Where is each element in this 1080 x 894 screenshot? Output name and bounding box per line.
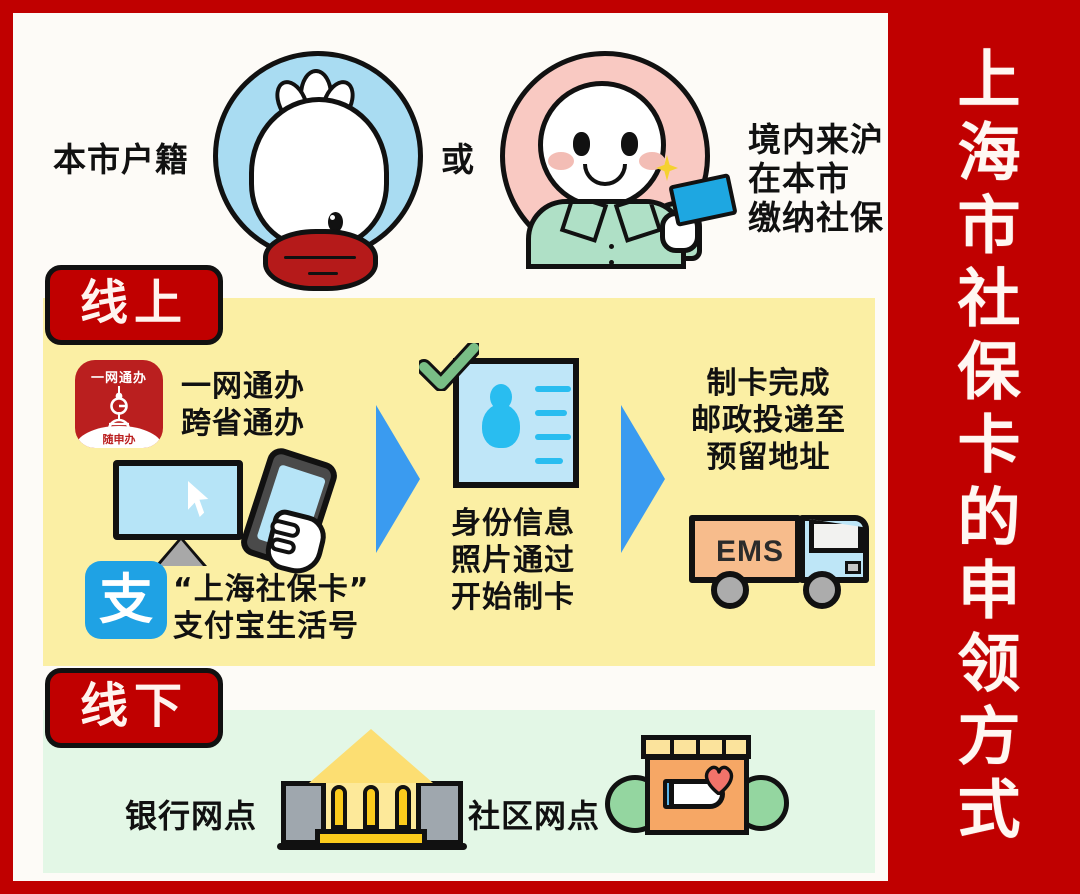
collar-left (560, 199, 609, 243)
monitor-icon (113, 460, 243, 540)
offline-site-2-label: 社区网点 (468, 791, 600, 837)
alipay-app-icon[interactable]: 支 (85, 561, 167, 639)
red-scarf (263, 229, 378, 291)
ems-delivery-truck: EMS (689, 505, 869, 609)
offline-site-1-label: 银行网点 (125, 791, 257, 837)
mascot-face (249, 97, 389, 249)
mouth-smile (583, 164, 627, 186)
bank-roof (309, 729, 433, 783)
eye-right (621, 132, 638, 156)
yiwangtongban-app-icon[interactable]: 一网通办 随申办 (75, 360, 163, 448)
oriental-pearl-tower-icon (102, 386, 136, 430)
xiaolongbao-mascot (213, 51, 423, 263)
mascot-face (538, 81, 666, 209)
app-icon-top-text: 一网通办 (75, 367, 163, 386)
cheek-blush-left (548, 152, 574, 170)
heart-icon (703, 765, 735, 795)
bank-building-icon (281, 725, 461, 849)
eye-left (573, 132, 590, 156)
truck-wheel-front (803, 571, 841, 609)
verification-step-label: 身份信息 照片通过 开始制卡 (451, 505, 575, 617)
poster-root: 本市户籍 (0, 0, 1080, 894)
online-channel-2-label: “上海社保卡” 支付宝生活号 (173, 571, 369, 645)
poster-canvas: 本市户籍 (13, 13, 888, 881)
collar-right (614, 199, 663, 243)
ems-label: EMS (703, 535, 797, 569)
offline-section-badge: 线下 (45, 668, 223, 748)
eligibility-connector-label: 或 (441, 141, 475, 180)
truck-light (845, 561, 861, 574)
id-photo-body (482, 404, 520, 448)
truck-wheel-rear (711, 571, 749, 609)
online-channel-1-label: 一网通办 跨省通办 (181, 368, 305, 442)
bank-ground-line (277, 843, 467, 850)
app-icon-bottom-text: 随申办 (75, 431, 163, 447)
id-photo-icon (479, 384, 523, 446)
worker-mascot-with-card (500, 51, 715, 263)
eligibility-row: 本市户籍 (13, 13, 888, 285)
green-checkmark-icon (419, 343, 479, 391)
poster-title: 上海市社保卡的申领方式 (953, 46, 1016, 849)
title-band: 上海市社保卡的申领方式 (888, 0, 1080, 894)
eligibility-nonlocal-label: 境内来沪 在本市 缴纳社保 (748, 121, 884, 238)
community-center-icon (605, 731, 785, 843)
eligibility-local-label: 本市户籍 (53, 141, 189, 180)
online-section-badge: 线上 (45, 265, 223, 345)
delivery-step-label: 制卡完成 邮政投递至 预留地址 (691, 365, 846, 477)
monitor-stand (159, 540, 203, 566)
